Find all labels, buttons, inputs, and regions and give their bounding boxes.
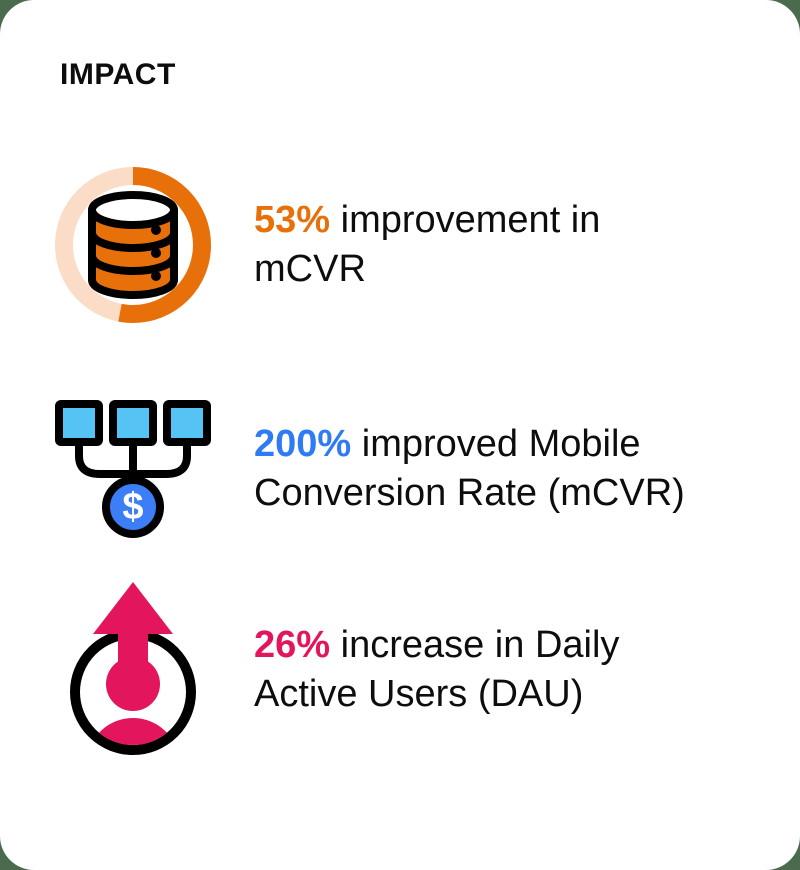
dollar-symbol: $ bbox=[122, 486, 143, 528]
stat-value: 200% bbox=[254, 423, 351, 465]
dollar-coin: $ bbox=[106, 480, 160, 534]
page-title: IMPACT bbox=[60, 58, 176, 91]
funnel-nodes bbox=[59, 404, 207, 442]
user-growth-arrow-icon bbox=[48, 580, 218, 760]
stat-value: 26% bbox=[254, 624, 330, 666]
stat-text: 200% improved Mobile Conversion Rate (mC… bbox=[254, 420, 784, 517]
database-donut-icon bbox=[48, 155, 218, 335]
stat-row: $ 200% improved Mobile Conversion Rate (… bbox=[0, 394, 800, 544]
stat-row: 26% increase in Daily Active Users (DAU) bbox=[0, 572, 800, 768]
stat-value: 53% bbox=[254, 199, 330, 241]
stat-row: 53% improvement in mCVR bbox=[0, 152, 800, 338]
stat-text: 53% improvement in mCVR bbox=[254, 196, 674, 293]
database-glyph bbox=[92, 195, 174, 295]
stat-text: 26% increase in Daily Active Users (DAU) bbox=[254, 621, 724, 718]
conversion-funnel-dollar-icon: $ bbox=[48, 379, 218, 559]
impact-card: IMPACT bbox=[0, 0, 800, 870]
